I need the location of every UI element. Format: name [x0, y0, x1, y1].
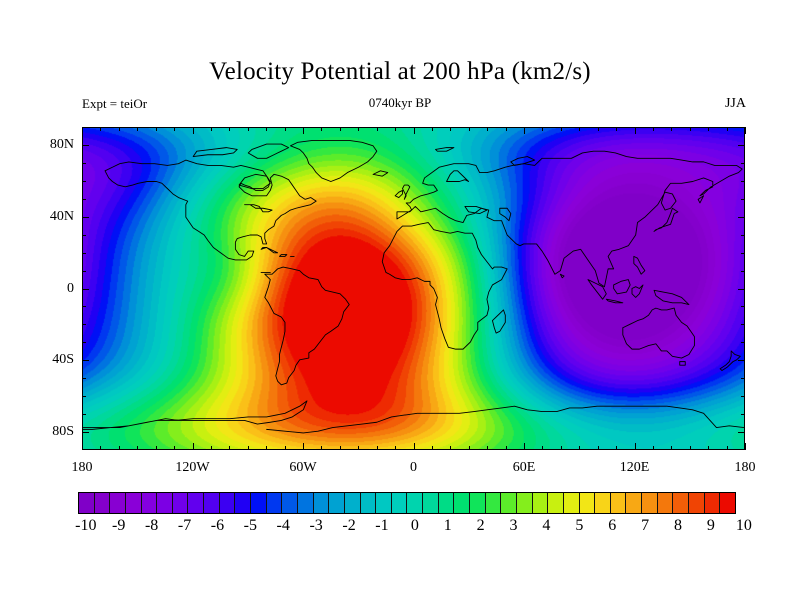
x-tick-top	[340, 127, 341, 131]
colorbar-cell	[392, 493, 408, 513]
coastline-path	[267, 406, 744, 433]
x-tick-bottom	[414, 443, 415, 450]
y-tick-left	[82, 217, 89, 218]
colorbar-cell	[580, 493, 596, 513]
x-tick-bottom	[579, 446, 580, 450]
y-tick-right	[738, 289, 745, 290]
x-tick-top	[303, 127, 304, 134]
x-tick-top	[414, 127, 415, 134]
colorbar-tick-label: -5	[244, 517, 257, 535]
x-tick-bottom	[469, 446, 470, 450]
y-tick-left	[82, 360, 89, 361]
y-axis-label: 0	[24, 281, 74, 297]
colorbar-cell	[673, 493, 689, 513]
colorbar-tick-label: 0	[411, 517, 419, 535]
colorbar-tick-label: -9	[112, 517, 125, 535]
colorbar-cell	[142, 493, 158, 513]
colorbar-tick-label: 5	[575, 517, 583, 535]
y-tick-right	[741, 271, 745, 272]
x-tick-bottom	[506, 446, 507, 450]
colorbar-cell	[329, 493, 345, 513]
colorbar-cell	[376, 493, 392, 513]
y-tick-right	[741, 306, 745, 307]
x-tick-top	[211, 127, 212, 131]
y-tick-left	[82, 342, 86, 343]
y-tick-left	[82, 145, 89, 146]
y-tick-right	[741, 378, 745, 379]
x-tick-bottom	[561, 446, 562, 450]
coastline-path	[654, 208, 678, 231]
coastline-path	[560, 274, 564, 278]
colorbar-tick-label: 1	[444, 517, 452, 535]
x-tick-top	[174, 127, 175, 131]
colorbar-cell	[126, 493, 142, 513]
colorbar-tick-label: 3	[510, 517, 518, 535]
y-tick-right	[738, 145, 745, 146]
y-tick-left	[82, 396, 86, 397]
y-tick-right	[738, 360, 745, 361]
coastline-path	[614, 280, 631, 294]
y-tick-right	[738, 217, 745, 218]
y-tick-left	[82, 235, 86, 236]
colorbar-cell	[173, 493, 189, 513]
colorbar-cell	[157, 493, 173, 513]
colorbar-cell	[486, 493, 502, 513]
x-tick-top	[506, 127, 507, 131]
colorbar-tick-label: -4	[277, 517, 290, 535]
colorbar-cell	[517, 493, 533, 513]
season-label: JJA	[725, 96, 746, 112]
coastline-path	[698, 196, 704, 203]
y-tick-left	[82, 324, 86, 325]
x-tick-top	[542, 127, 543, 131]
y-tick-left	[82, 163, 86, 164]
coastline-path	[447, 171, 469, 182]
x-tick-bottom	[616, 446, 617, 450]
x-tick-bottom	[82, 443, 83, 450]
y-tick-left	[82, 414, 86, 415]
coastline-path	[588, 280, 606, 300]
x-tick-top	[395, 127, 396, 131]
y-tick-left	[82, 271, 86, 272]
x-tick-top	[616, 127, 617, 131]
colorbar-cell	[642, 493, 658, 513]
x-tick-bottom	[432, 446, 433, 450]
x-tick-bottom	[635, 443, 636, 450]
colorbar-cell	[188, 493, 204, 513]
y-tick-right	[741, 396, 745, 397]
y-axis-label: 40S	[24, 352, 74, 368]
x-tick-bottom	[248, 446, 249, 450]
x-tick-top	[100, 127, 101, 131]
x-tick-top	[266, 127, 267, 131]
coastline-path	[436, 148, 454, 152]
x-tick-bottom	[321, 446, 322, 450]
x-tick-top	[432, 127, 433, 131]
x-tick-top	[82, 127, 83, 134]
x-tick-top	[248, 127, 249, 131]
colorbar-cell	[251, 493, 267, 513]
colorbar-tick-label: 4	[542, 517, 550, 535]
colorbar-cell	[626, 493, 642, 513]
y-tick-right	[741, 414, 745, 415]
x-tick-top	[561, 127, 562, 131]
coastline-path	[83, 401, 307, 430]
x-tick-bottom	[193, 443, 194, 450]
colorbar-cell	[720, 493, 735, 513]
colorbar-cell	[548, 493, 564, 513]
y-tick-left	[82, 306, 86, 307]
coastline-path	[606, 299, 623, 303]
x-tick-top	[469, 127, 470, 131]
x-tick-bottom	[395, 446, 396, 450]
colorbar-cell	[314, 493, 330, 513]
colorbar-cell	[220, 493, 236, 513]
colorbar-cell	[611, 493, 627, 513]
x-tick-top	[229, 127, 230, 131]
coastline-path	[105, 160, 316, 260]
colorbar-tick-label: -7	[178, 517, 191, 535]
y-tick-left	[82, 253, 86, 254]
x-tick-bottom	[285, 446, 286, 450]
coastline-path	[279, 255, 286, 257]
colorbar-cell	[439, 493, 455, 513]
x-axis-label: 180	[735, 460, 756, 476]
colorbar-cell	[705, 493, 721, 513]
colorbar-cells	[78, 492, 736, 514]
coastline-path	[395, 190, 402, 197]
page-title: Velocity Potential at 200 hPa (km2/s)	[0, 58, 800, 86]
colorbar-tick-label: -3	[309, 517, 322, 535]
colorbar-cell	[470, 493, 486, 513]
colorbar-cell	[95, 493, 111, 513]
x-tick-bottom	[211, 446, 212, 450]
y-tick-left	[82, 199, 86, 200]
x-tick-bottom	[598, 446, 599, 450]
x-axis-label: 180	[72, 460, 93, 476]
y-tick-right	[741, 253, 745, 254]
colorbar-cell	[345, 493, 361, 513]
y-tick-right	[738, 432, 745, 433]
experiment-label: Expt = teiOr	[82, 96, 147, 112]
colorbar-cell	[658, 493, 674, 513]
coastline-path	[654, 290, 689, 304]
coastline-path	[382, 223, 507, 350]
velocity-potential-figure: Velocity Potential at 200 hPa (km2/s) 07…	[0, 0, 800, 600]
x-tick-bottom	[727, 446, 728, 450]
y-tick-right	[741, 163, 745, 164]
x-axis-label: 120W	[175, 460, 209, 476]
x-tick-bottom	[487, 446, 488, 450]
x-tick-bottom	[524, 443, 525, 450]
colorbar-cell	[79, 493, 95, 513]
x-tick-bottom	[156, 446, 157, 450]
x-tick-top	[671, 127, 672, 131]
coastline-path	[373, 171, 388, 176]
y-tick-right	[741, 199, 745, 200]
coastline-path	[245, 205, 273, 212]
y-tick-left	[82, 181, 86, 182]
coastline-path	[500, 208, 511, 220]
x-tick-top	[745, 127, 746, 134]
x-tick-top	[708, 127, 709, 131]
coastline-path	[265, 267, 349, 385]
x-tick-bottom	[340, 446, 341, 450]
y-axis-label: 40N	[24, 209, 74, 225]
x-tick-top	[727, 127, 728, 131]
coastline-path	[193, 148, 237, 157]
colorbar-tick-label: 10	[736, 517, 752, 535]
x-tick-top	[321, 127, 322, 131]
coastline-path	[402, 185, 409, 199]
x-tick-top	[137, 127, 138, 131]
colorbar-cell	[282, 493, 298, 513]
colorbar-tick-label: -8	[145, 517, 158, 535]
x-tick-bottom	[303, 443, 304, 450]
colorbar-cell	[689, 493, 705, 513]
colorbar-cell	[361, 493, 377, 513]
colorbar-cell	[454, 493, 470, 513]
x-tick-top	[524, 127, 525, 134]
x-tick-top	[193, 127, 194, 134]
colorbar-tick-label: 8	[674, 517, 682, 535]
coastline-path	[680, 362, 686, 366]
colorbar-cell	[564, 493, 580, 513]
x-tick-top	[450, 127, 451, 131]
coastline-path	[267, 247, 278, 252]
x-tick-top	[635, 127, 636, 134]
x-tick-bottom	[137, 446, 138, 450]
colorbar-cell	[423, 493, 439, 513]
coastline-overlay	[83, 128, 744, 449]
x-tick-top	[598, 127, 599, 131]
x-tick-bottom	[119, 446, 120, 450]
x-tick-bottom	[174, 446, 175, 450]
x-tick-top	[690, 127, 691, 131]
coastline-path	[623, 308, 695, 358]
coastline-path	[248, 144, 288, 158]
coastline-path	[239, 174, 270, 188]
x-tick-bottom	[671, 446, 672, 450]
coastline-path	[632, 285, 643, 297]
coastline-path	[261, 247, 267, 249]
y-tick-right	[741, 342, 745, 343]
colorbar-cell	[501, 493, 517, 513]
colorbar-tick-label: 9	[707, 517, 715, 535]
x-axis-label: 0	[410, 460, 417, 476]
x-tick-bottom	[100, 446, 101, 450]
x-tick-bottom	[745, 443, 746, 450]
x-tick-top	[285, 127, 286, 131]
x-tick-bottom	[377, 446, 378, 450]
coastline-path	[634, 256, 645, 274]
x-axis-label: 60E	[513, 460, 536, 476]
x-tick-top	[119, 127, 120, 131]
x-tick-bottom	[450, 446, 451, 450]
x-tick-top	[377, 127, 378, 131]
colorbar-tick-label: -2	[342, 517, 355, 535]
x-tick-bottom	[358, 446, 359, 450]
x-axis-label: 60W	[289, 460, 316, 476]
x-tick-bottom	[653, 446, 654, 450]
y-tick-right	[741, 324, 745, 325]
colorbar-cell	[533, 493, 549, 513]
x-tick-bottom	[229, 446, 230, 450]
x-tick-top	[653, 127, 654, 131]
y-tick-left	[82, 289, 89, 290]
x-tick-top	[487, 127, 488, 131]
colorbar-cell	[267, 493, 283, 513]
colorbar-tick-label: -6	[211, 517, 224, 535]
colorbar-tick-label: 7	[641, 517, 649, 535]
x-tick-bottom	[690, 446, 691, 450]
colorbar-tick-label: 2	[477, 517, 485, 535]
colorbar-cell	[235, 493, 251, 513]
colorbar-cell	[110, 493, 126, 513]
colorbar	[78, 492, 736, 514]
colorbar-tick-label: -1	[375, 517, 388, 535]
colorbar-tick-label: -10	[75, 517, 96, 535]
x-tick-bottom	[708, 446, 709, 450]
map-plot-area	[82, 127, 745, 450]
x-tick-top	[579, 127, 580, 131]
y-tick-right	[741, 181, 745, 182]
y-tick-left	[82, 378, 86, 379]
x-axis-label: 120E	[620, 460, 650, 476]
y-axis-label: 80S	[24, 424, 74, 440]
colorbar-cell	[298, 493, 314, 513]
x-tick-top	[358, 127, 359, 131]
y-tick-right	[741, 235, 745, 236]
y-tick-left	[82, 432, 89, 433]
colorbar-cell	[595, 493, 611, 513]
x-tick-top	[156, 127, 157, 131]
y-axis-label: 80N	[24, 137, 74, 153]
colorbar-tick-label: 6	[608, 517, 616, 535]
x-tick-bottom	[542, 446, 543, 450]
coastline-path	[290, 140, 376, 181]
colorbar-cell	[407, 493, 423, 513]
coastline-path	[511, 157, 535, 166]
x-tick-bottom	[266, 446, 267, 450]
colorbar-cell	[204, 493, 220, 513]
coastline-path	[397, 151, 742, 287]
coastline-path	[492, 310, 505, 333]
